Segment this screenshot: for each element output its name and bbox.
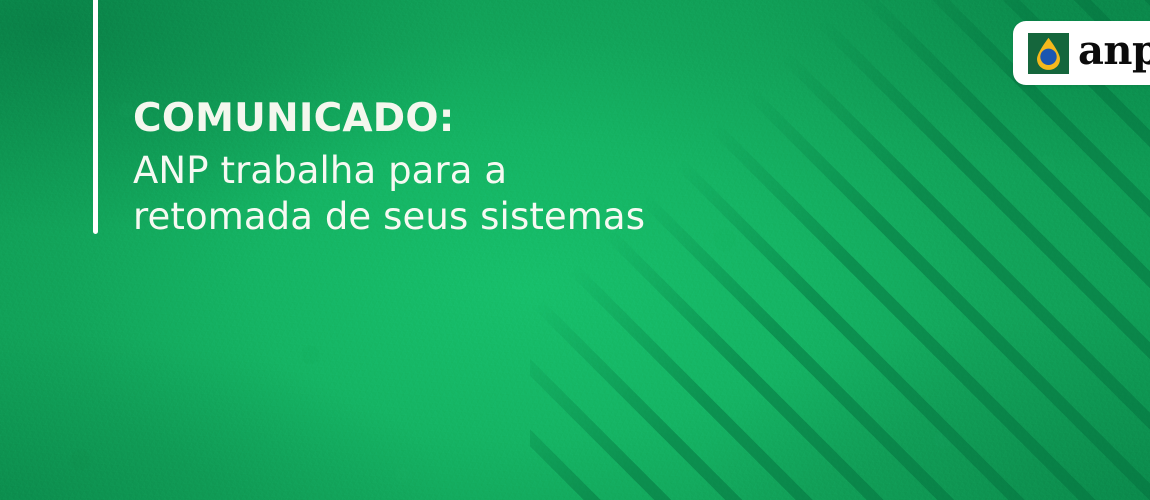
anp-wordmark: anp	[1078, 31, 1150, 71]
headline-line-2: retomada de seus sistemas	[133, 194, 893, 240]
communication-banner: COMUNICADO: ANP trabalha para a retomada…	[0, 0, 1150, 500]
headline-block: COMUNICADO: ANP trabalha para a retomada…	[133, 96, 893, 240]
anp-logo-badge[interactable]: anp	[1013, 21, 1150, 85]
headline-line-1: ANP trabalha para a	[133, 148, 893, 194]
vertical-accent-rule	[93, 0, 98, 234]
headline-kicker: COMUNICADO:	[133, 96, 893, 142]
background-mottle-texture	[0, 0, 1150, 500]
anp-oil-drop-icon	[1028, 33, 1069, 74]
